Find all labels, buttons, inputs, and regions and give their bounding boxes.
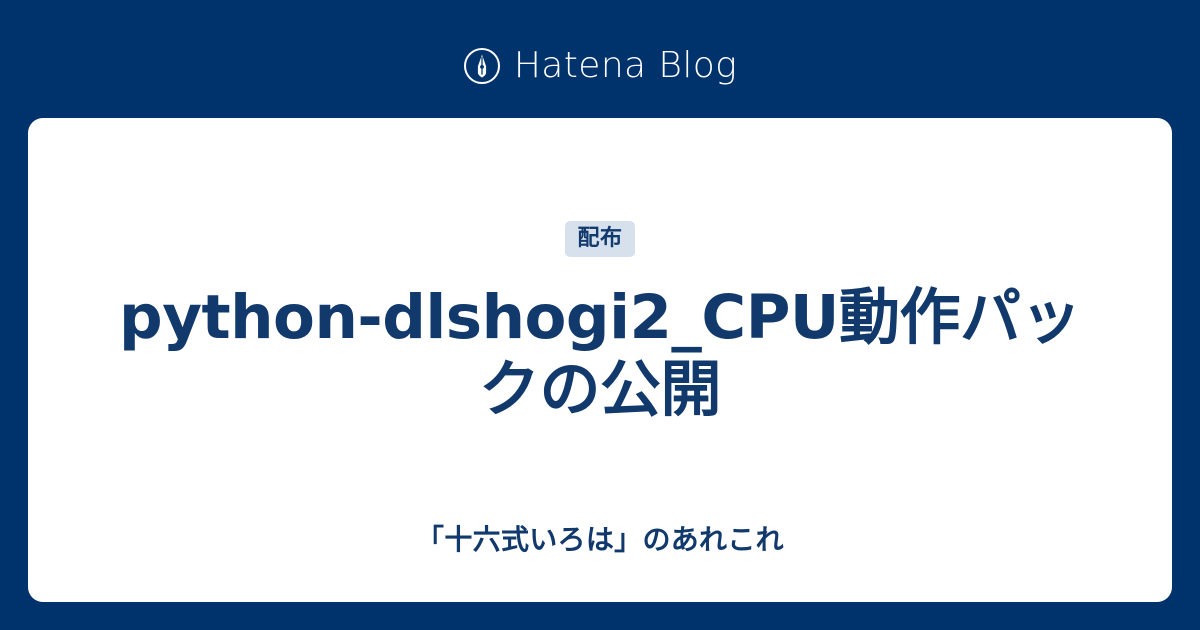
category-badge[interactable]: 配布: [565, 221, 634, 257]
hatena-blog-brand: Hatena Blog: [0, 40, 1200, 92]
brand-name-label: Hatena Blog: [514, 48, 737, 84]
ogp-card-canvas: Hatena Blog 配布 python-dlshogi2_CPU動作パックの…: [0, 0, 1200, 630]
category-badge-row: 配布: [565, 221, 634, 257]
blog-title: 「十六式いろは」のあれこれ: [28, 522, 1172, 558]
entry-title: python-dlshogi2_CPU動作パックの公開: [95, 282, 1105, 426]
pen-nib-circle-icon: [463, 47, 501, 85]
entry-card: 配布 python-dlshogi2_CPU動作パックの公開 「十六式いろは」の…: [28, 118, 1172, 602]
